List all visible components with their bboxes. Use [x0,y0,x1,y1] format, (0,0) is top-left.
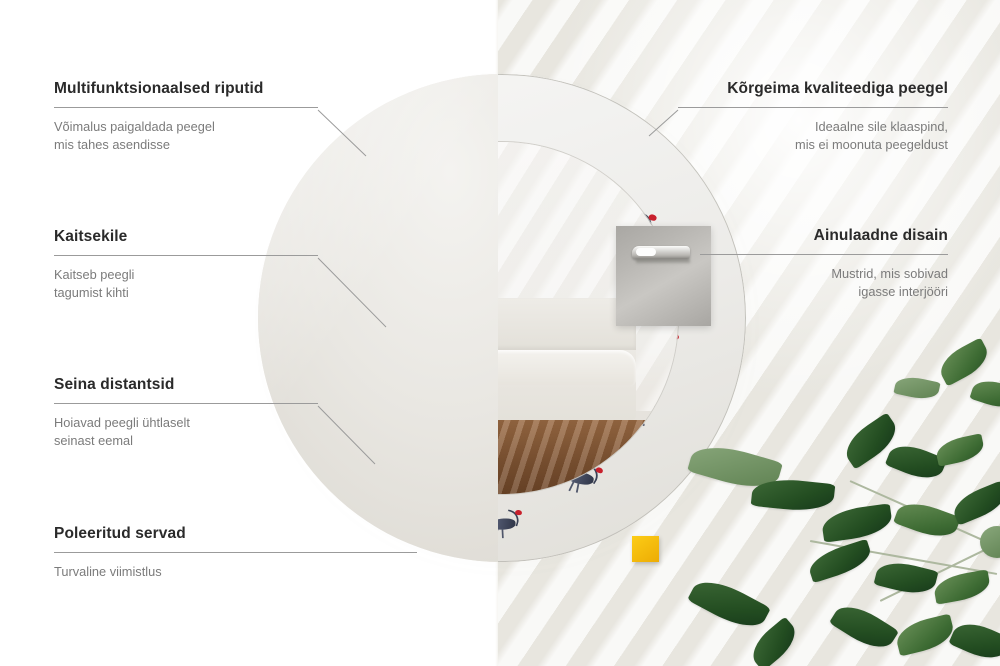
leaf [893,374,940,403]
leaf [969,375,1000,412]
leaf [932,569,992,604]
callout-title: Seina distantsid [54,376,318,394]
leaf [687,572,771,637]
callout-description: Mustrid, mis sobivad igasse interjööri [700,265,948,301]
callout-description: Turvaline viimistlus [54,563,417,581]
round-mirror [258,74,750,566]
leaf [820,503,893,542]
callout-seina-distantsid: Seina distantsid Hoiavad peegli ühtlasel… [54,376,318,450]
callout-title: Multifunktsionaalsed riputid [54,80,318,98]
leaf [949,480,1000,525]
hanger-bracket-icon [632,246,690,259]
leaf [934,433,986,466]
callout-rule [54,552,417,553]
callout-description: Võimalus paigaldada peegel mis tahes ase… [54,118,318,154]
callout-title: Kõrgeima kvaliteediga peegel [678,80,948,98]
hanger-bracket-swatch [616,226,711,326]
callout-title: Ainulaadne disain [700,227,948,245]
callout-rule [54,255,318,256]
callout-description: Hoiavad peegli ühtlaselt seinast eemal [54,414,318,450]
callout-description: Kaitseb peegli tagumist kihti [54,266,318,302]
callout-ainulaadne-disain: Ainulaadne disain Mustrid, mis sobivad i… [700,227,948,301]
leaf [934,337,993,386]
callout-description: Ideaalne sile klaaspind, mis ei moonuta … [678,118,948,154]
callout-korgeima-kvaliteediga-peegel: Kõrgeima kvaliteediga peegel Ideaalne si… [678,80,948,154]
callout-rule [700,254,948,255]
callout-kaitsekile: Kaitsekile Kaitseb peegli tagumist kihti [54,228,318,302]
callout-rule [54,403,318,404]
callout-multifunktsionaalsed-riputid: Multifunktsionaalsed riputid Võimalus pa… [54,80,318,154]
leaf [893,613,957,656]
leaf [980,526,1000,558]
callout-title: Poleeritud servad [54,525,417,543]
callout-title: Kaitsekile [54,228,318,246]
infographic-canvas: Multifunktsionaalsed riputid Võimalus pa… [0,0,1000,666]
wall-spacer-swatch [632,536,659,562]
hanger-bracket-shadow [636,259,690,263]
foliage-decoration [690,330,1000,666]
leaf [948,616,1000,666]
callout-poleeritud-servad: Poleeritud servad Turvaline viimistlus [54,525,417,581]
callout-rule [54,107,318,108]
callout-rule [678,107,948,108]
leaf [874,557,939,599]
leaf [829,597,899,656]
